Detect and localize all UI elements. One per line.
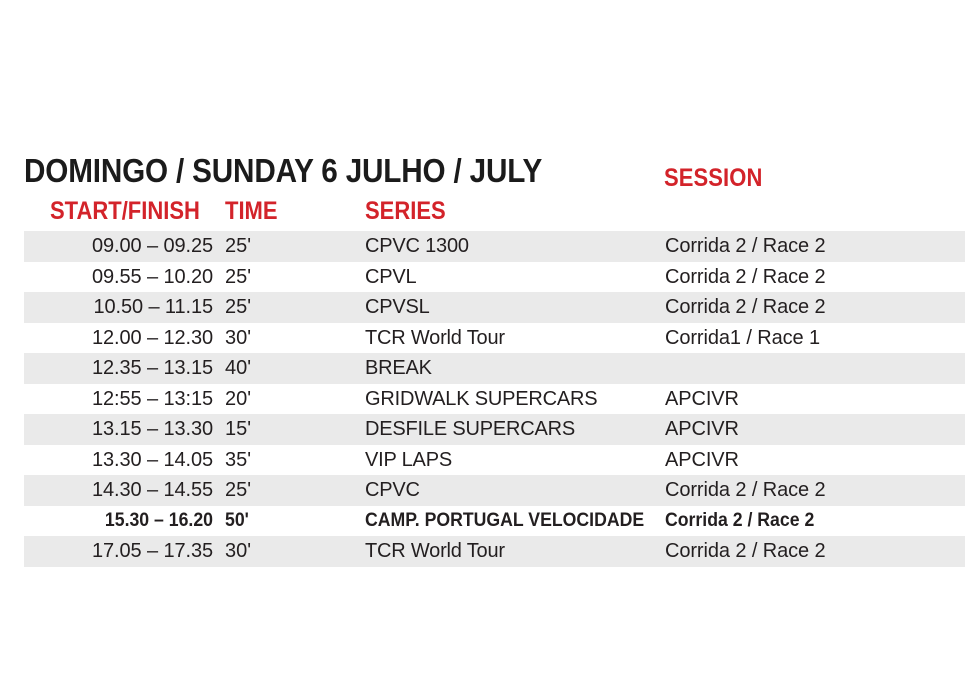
cell-start-finish: 12.00 – 12.30 <box>24 323 213 354</box>
cell-series: BREAK <box>365 353 665 384</box>
cell-session: APCIVR <box>665 414 965 445</box>
table-row: 12.00 – 12.3030'TCR World TourCorrida1 /… <box>24 323 965 354</box>
cell-series: CPVC 1300 <box>365 231 665 262</box>
cell-start-finish: 15.30 – 16.20 <box>37 506 213 537</box>
cell-series: DESFILE SUPERCARS <box>365 414 665 445</box>
cell-start-finish: 13.30 – 14.05 <box>24 445 213 476</box>
cell-session <box>665 353 965 384</box>
cell-start-finish: 09.00 – 09.25 <box>24 231 213 262</box>
cell-time: 25' <box>225 231 345 262</box>
cell-start-finish: 09.55 – 10.20 <box>24 262 213 293</box>
cell-time: 35' <box>225 445 345 476</box>
cell-start-finish: 13.15 – 13.30 <box>24 414 213 445</box>
cell-series: VIP LAPS <box>365 445 665 476</box>
table-row: 13.30 – 14.0535'VIP LAPSAPCIVR <box>24 445 965 476</box>
cell-time: 40' <box>225 353 345 384</box>
cell-series: CPVSL <box>365 292 665 323</box>
schedule-page: DOMINGO / SUNDAY 6 JULHO / JULY SESSION … <box>0 0 974 691</box>
cell-session: Corrida 2 / Race 2 <box>665 292 965 323</box>
table-row: 09.00 – 09.2525'CPVC 1300Corrida 2 / Rac… <box>24 231 965 262</box>
cell-series: CPVC <box>365 475 665 506</box>
cell-start-finish: 17.05 – 17.35 <box>24 536 213 567</box>
cell-time: 50' <box>225 506 337 537</box>
table-row: 15.30 – 16.2050'CAMP. PORTUGAL VELOCIDAD… <box>24 506 965 537</box>
cell-session: Corrida 2 / Race 2 <box>665 536 965 567</box>
cell-time: 25' <box>225 475 345 506</box>
table-row: 13.15 – 13.3015'DESFILE SUPERCARSAPCIVR <box>24 414 965 445</box>
table-row: 09.55 – 10.2025'CPVLCorrida 2 / Race 2 <box>24 262 965 293</box>
schedule-table: 09.00 – 09.2525'CPVC 1300Corrida 2 / Rac… <box>24 231 965 567</box>
schedule-header: DOMINGO / SUNDAY 6 JULHO / JULY SESSION … <box>0 0 974 228</box>
cell-session: Corrida 2 / Race 2 <box>665 506 944 537</box>
column-header-series: SERIES <box>365 199 446 224</box>
cell-time: 25' <box>225 262 345 293</box>
table-row: 17.05 – 17.3530'TCR World TourCorrida 2 … <box>24 536 965 567</box>
cell-session: Corrida 2 / Race 2 <box>665 475 965 506</box>
cell-series: CAMP. PORTUGAL VELOCIDADE <box>365 506 644 537</box>
cell-series: TCR World Tour <box>365 536 665 567</box>
cell-start-finish: 10.50 – 11.15 <box>24 292 213 323</box>
cell-session: APCIVR <box>665 445 965 476</box>
cell-start-finish: 12:55 – 13:15 <box>24 384 213 415</box>
cell-session: APCIVR <box>665 384 965 415</box>
cell-time: 30' <box>225 323 345 354</box>
table-row: 12:55 – 13:1520'GRIDWALK SUPERCARSAPCIVR <box>24 384 965 415</box>
page-title: DOMINGO / SUNDAY 6 JULHO / JULY <box>24 154 542 187</box>
column-header-start-finish: START/FINISH <box>50 199 200 224</box>
table-row: 14.30 – 14.5525'CPVCCorrida 2 / Race 2 <box>24 475 965 506</box>
cell-session: Corrida 2 / Race 2 <box>665 231 965 262</box>
cell-time: 20' <box>225 384 345 415</box>
cell-series: GRIDWALK SUPERCARS <box>365 384 665 415</box>
column-header-session: SESSION <box>664 166 762 191</box>
table-row: 10.50 – 11.1525'CPVSLCorrida 2 / Race 2 <box>24 292 965 323</box>
column-header-time: TIME <box>225 199 278 224</box>
table-row: 12.35 – 13.1540'BREAK <box>24 353 965 384</box>
cell-time: 30' <box>225 536 345 567</box>
cell-series: CPVL <box>365 262 665 293</box>
cell-start-finish: 12.35 – 13.15 <box>24 353 213 384</box>
cell-session: Corrida1 / Race 1 <box>665 323 965 354</box>
cell-series: TCR World Tour <box>365 323 665 354</box>
cell-start-finish: 14.30 – 14.55 <box>24 475 213 506</box>
cell-time: 25' <box>225 292 345 323</box>
cell-time: 15' <box>225 414 345 445</box>
cell-session: Corrida 2 / Race 2 <box>665 262 965 293</box>
